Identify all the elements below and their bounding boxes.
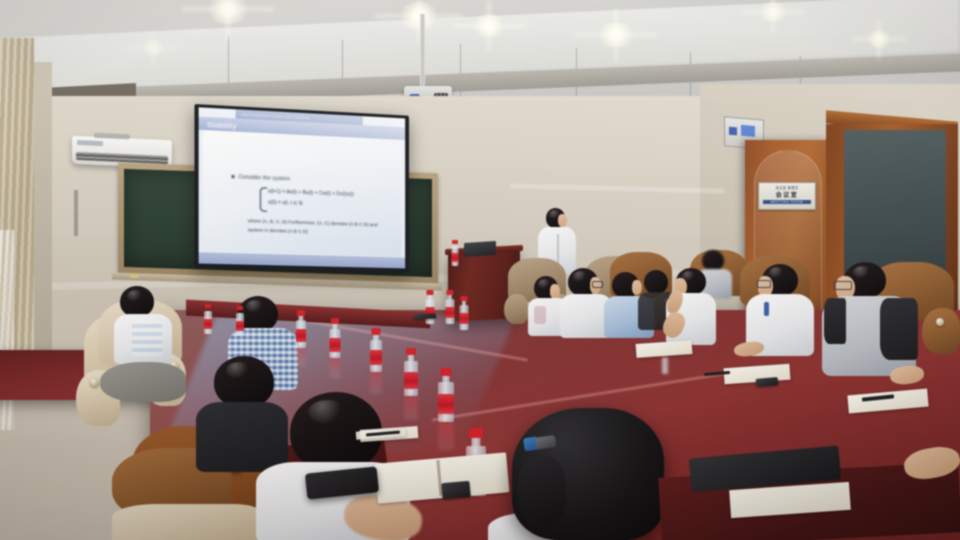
bottle-cap bbox=[406, 348, 416, 355]
bottle-cap bbox=[371, 328, 380, 335]
bottle-reflection bbox=[404, 396, 418, 420]
pocket-pen bbox=[764, 302, 769, 316]
bottle-label bbox=[404, 372, 418, 389]
chair-arm bbox=[922, 308, 960, 354]
air-conditioner-top-panel bbox=[94, 133, 130, 140]
hair-sheen bbox=[308, 400, 348, 424]
water-bottle[interactable] bbox=[294, 310, 307, 348]
chair-headrest-cushion bbox=[100, 362, 186, 402]
hair-sheen bbox=[769, 267, 785, 279]
hair-sheen bbox=[853, 266, 872, 279]
attendee-face bbox=[550, 284, 560, 299]
bottle-reflection bbox=[330, 358, 341, 378]
bottle-cap bbox=[452, 240, 458, 244]
water-bottle[interactable] bbox=[450, 240, 460, 266]
bottle-label bbox=[446, 307, 455, 318]
bottle-label bbox=[296, 329, 306, 342]
hair-sheen bbox=[573, 271, 588, 283]
ceiling-downlight bbox=[866, 30, 892, 48]
ceiling-seam bbox=[228, 36, 229, 84]
bottle-reflection bbox=[370, 372, 382, 394]
eyeglasses bbox=[834, 281, 852, 290]
bottle-label bbox=[370, 350, 382, 365]
bottle-cap bbox=[440, 368, 451, 376]
attendee-10 bbox=[818, 262, 922, 390]
ceiling-downlight bbox=[140, 40, 166, 56]
air-conditioner-badge bbox=[77, 140, 103, 146]
attendee-head bbox=[120, 286, 154, 317]
backpack-strap bbox=[518, 456, 566, 526]
collar-shadow bbox=[534, 306, 546, 324]
water-bottle[interactable] bbox=[368, 328, 383, 372]
raglan-sleeve bbox=[824, 298, 846, 344]
raglan-sleeve bbox=[880, 298, 918, 360]
eyeglasses bbox=[757, 280, 771, 288]
projection-screen: Mathematical Control and Stability Stabi… bbox=[199, 107, 406, 268]
bottle-neck bbox=[472, 438, 481, 446]
ceiling-downlight bbox=[398, 2, 440, 30]
bottle-label bbox=[460, 313, 469, 324]
sheer-curtain bbox=[0, 230, 14, 430]
ceiling-downlight bbox=[472, 14, 506, 38]
door-sign-line-3: MEETING ROOM bbox=[763, 200, 811, 204]
bottle-cap bbox=[237, 306, 243, 310]
panel-display-icon bbox=[741, 125, 755, 137]
mobile-phone[interactable] bbox=[441, 481, 470, 499]
screen-glare bbox=[199, 107, 406, 268]
chair-arm bbox=[504, 294, 528, 324]
chair-stud bbox=[936, 318, 944, 326]
bottle-body bbox=[661, 357, 668, 374]
presenter-face bbox=[558, 214, 567, 227]
hair-sheen bbox=[127, 290, 144, 302]
laptop-on-lectern[interactable] bbox=[464, 241, 496, 257]
hair-sheen bbox=[246, 300, 265, 313]
bottle-label bbox=[438, 394, 454, 414]
bottle-label bbox=[204, 319, 212, 329]
bottle-reflection bbox=[296, 348, 306, 366]
water-bottle[interactable] bbox=[234, 306, 245, 336]
ceiling-downlight bbox=[758, 2, 788, 22]
bottle-cap bbox=[469, 428, 483, 438]
water-bottle[interactable] bbox=[436, 368, 455, 422]
water-bottle[interactable] bbox=[202, 304, 213, 334]
backpack[interactable] bbox=[512, 408, 664, 540]
bottle-cap bbox=[205, 304, 211, 308]
water-bottle[interactable] bbox=[458, 296, 470, 330]
water-bottle[interactable] bbox=[444, 290, 456, 324]
ceiling-downlight bbox=[596, 22, 636, 48]
water-bottle[interactable] bbox=[328, 318, 342, 358]
chair-seat bbox=[112, 504, 262, 540]
door-sign-line-2: 会议室 bbox=[759, 190, 815, 199]
attendee-7 bbox=[662, 268, 720, 348]
ac-pipe bbox=[74, 190, 78, 236]
chalk-piece bbox=[130, 274, 139, 278]
laptop-lid bbox=[464, 241, 496, 257]
attendee-1 bbox=[114, 286, 176, 364]
attendee-9 bbox=[742, 264, 818, 364]
projection-screen-frame: Mathematical Control and Stability Stabi… bbox=[194, 104, 408, 272]
photo-scene: Mathematical Control and Stability Stabi… bbox=[0, 0, 960, 540]
bottle-label bbox=[452, 253, 459, 262]
bottle-body bbox=[535, 435, 556, 450]
water-bottle[interactable] bbox=[402, 348, 419, 396]
eyeglasses bbox=[592, 281, 603, 288]
panel-indicator-icon bbox=[729, 127, 737, 136]
bottle-label bbox=[330, 338, 341, 352]
shirt-pattern bbox=[132, 320, 162, 356]
hair-sheen bbox=[226, 362, 252, 379]
door-sign: 会议室 管理员 会议室 MEETING ROOM bbox=[758, 182, 816, 210]
projector-mount-pole bbox=[420, 14, 425, 86]
bottle-reflection bbox=[438, 422, 454, 450]
bottle-label bbox=[236, 321, 244, 331]
